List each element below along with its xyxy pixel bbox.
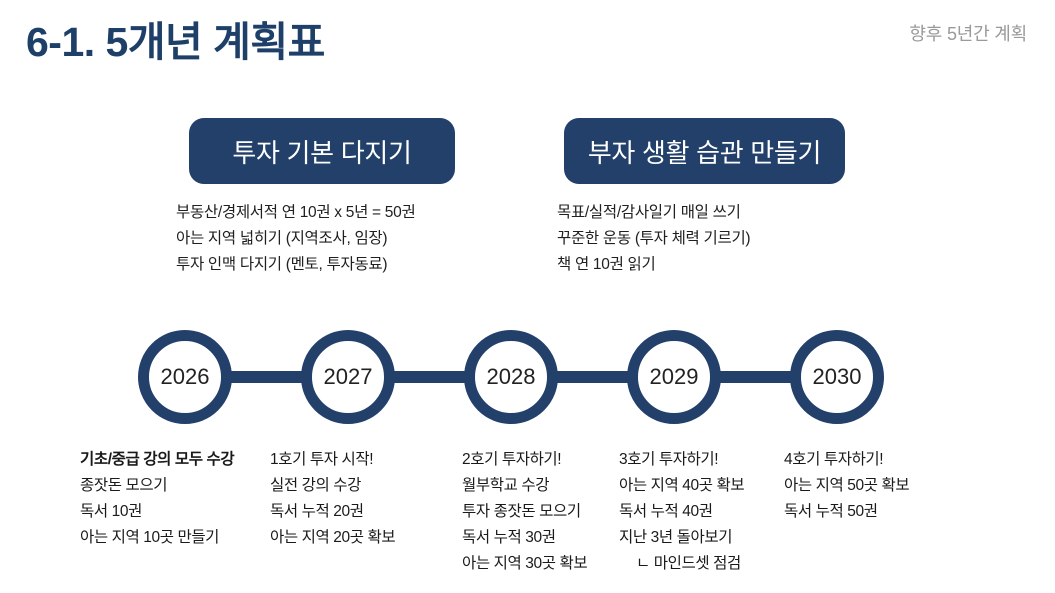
theme-note-line: 투자 인맥 다지기 (멘토, 투자동료) [176,252,415,278]
theme-note-line: 목표/실적/감사일기 매일 쓰기 [557,200,750,226]
theme-box-label: 부자 생활 습관 만들기 [588,133,821,170]
year-detail-line: 독서 누적 20권 [270,499,395,525]
timeline-year-label: 2029 [650,364,699,390]
timeline-year-label: 2026 [161,364,210,390]
year-detail-line: 종잣돈 모으기 [80,473,234,499]
timeline-node-2030[interactable]: 2030 [790,330,884,424]
year-detail-line: 2호기 투자하기! [462,447,587,473]
theme-note-line: 책 연 10권 읽기 [557,252,750,278]
year-detail-line: 아는 지역 30곳 확보 [462,551,587,577]
timeline-connector [554,371,631,383]
year-detail-line: 실전 강의 수강 [270,473,395,499]
timeline: 20262027202820292030 [0,320,1055,435]
year-details-2029: 3호기 투자하기!아는 지역 40곳 확보독서 누적 40권지난 3년 돌아보기… [619,447,744,577]
year-detail-line: 아는 지역 20곳 확보 [270,525,395,551]
theme-box-rich-habits: 부자 생활 습관 만들기 [564,118,845,184]
year-detail-line: 독서 누적 40권 [619,499,744,525]
year-detail-line: 독서 10권 [80,499,234,525]
year-details-2030: 4호기 투자하기!아는 지역 50곳 확보독서 누적 50권 [784,447,909,525]
year-details-2027: 1호기 투자 시작!실전 강의 수강독서 누적 20권아는 지역 20곳 확보 [270,447,395,551]
year-detail-line: 기초/중급 강의 모두 수강 [80,447,234,473]
year-details-2028: 2호기 투자하기!월부학교 수강투자 종잣돈 모으기독서 누적 30권아는 지역… [462,447,587,577]
year-detail-line: 아는 지역 40곳 확보 [619,473,744,499]
timeline-node-2027[interactable]: 2027 [301,330,395,424]
year-detail-line: 아는 지역 50곳 확보 [784,473,909,499]
year-detail-line: 4호기 투자하기! [784,447,909,473]
theme-note-line: 아는 지역 넓히기 (지역조사, 임장) [176,226,415,252]
theme-box-investment-basics: 투자 기본 다지기 [189,118,455,184]
timeline-node-2029[interactable]: 2029 [627,330,721,424]
theme-note-line: 부동산/경제서적 연 10권 x 5년 = 50권 [176,200,415,226]
timeline-connector [391,371,468,383]
year-detail-line: 독서 누적 30권 [462,525,587,551]
timeline-year-label: 2028 [487,364,536,390]
year-detail-line: 독서 누적 50권 [784,499,909,525]
timeline-node-2026[interactable]: 2026 [138,330,232,424]
year-detail-line: 월부학교 수강 [462,473,587,499]
year-detail-line: 투자 종잣돈 모으기 [462,499,587,525]
theme-note-line: 꾸준한 운동 (투자 체력 기르기) [557,226,750,252]
theme-notes-investment-basics: 부동산/경제서적 연 10권 x 5년 = 50권아는 지역 넓히기 (지역조사… [176,200,415,278]
slide-canvas: 6-1. 5개년 계획표 향후 5년간 계획 투자 기본 다지기 부자 생활 습… [0,0,1055,593]
timeline-connector [717,371,794,383]
year-detail-line: 아는 지역 10곳 만들기 [80,525,234,551]
year-details-2026: 기초/중급 강의 모두 수강종잣돈 모으기독서 10권아는 지역 10곳 만들기 [80,447,234,551]
year-detail-line: 1호기 투자 시작! [270,447,395,473]
year-detail-line: ㄴ 마인드셋 점검 [619,551,744,577]
timeline-connector [228,371,305,383]
timeline-node-2028[interactable]: 2028 [464,330,558,424]
theme-box-label: 투자 기본 다지기 [232,133,411,170]
page-title: 6-1. 5개년 계획표 [26,8,325,68]
page-subtitle: 향후 5년간 계획 [909,20,1027,46]
year-detail-line: 지난 3년 돌아보기 [619,525,744,551]
timeline-year-label: 2027 [324,364,373,390]
year-detail-line: 3호기 투자하기! [619,447,744,473]
theme-notes-rich-habits: 목표/실적/감사일기 매일 쓰기꾸준한 운동 (투자 체력 기르기)책 연 10… [557,200,750,278]
timeline-year-label: 2030 [813,364,862,390]
